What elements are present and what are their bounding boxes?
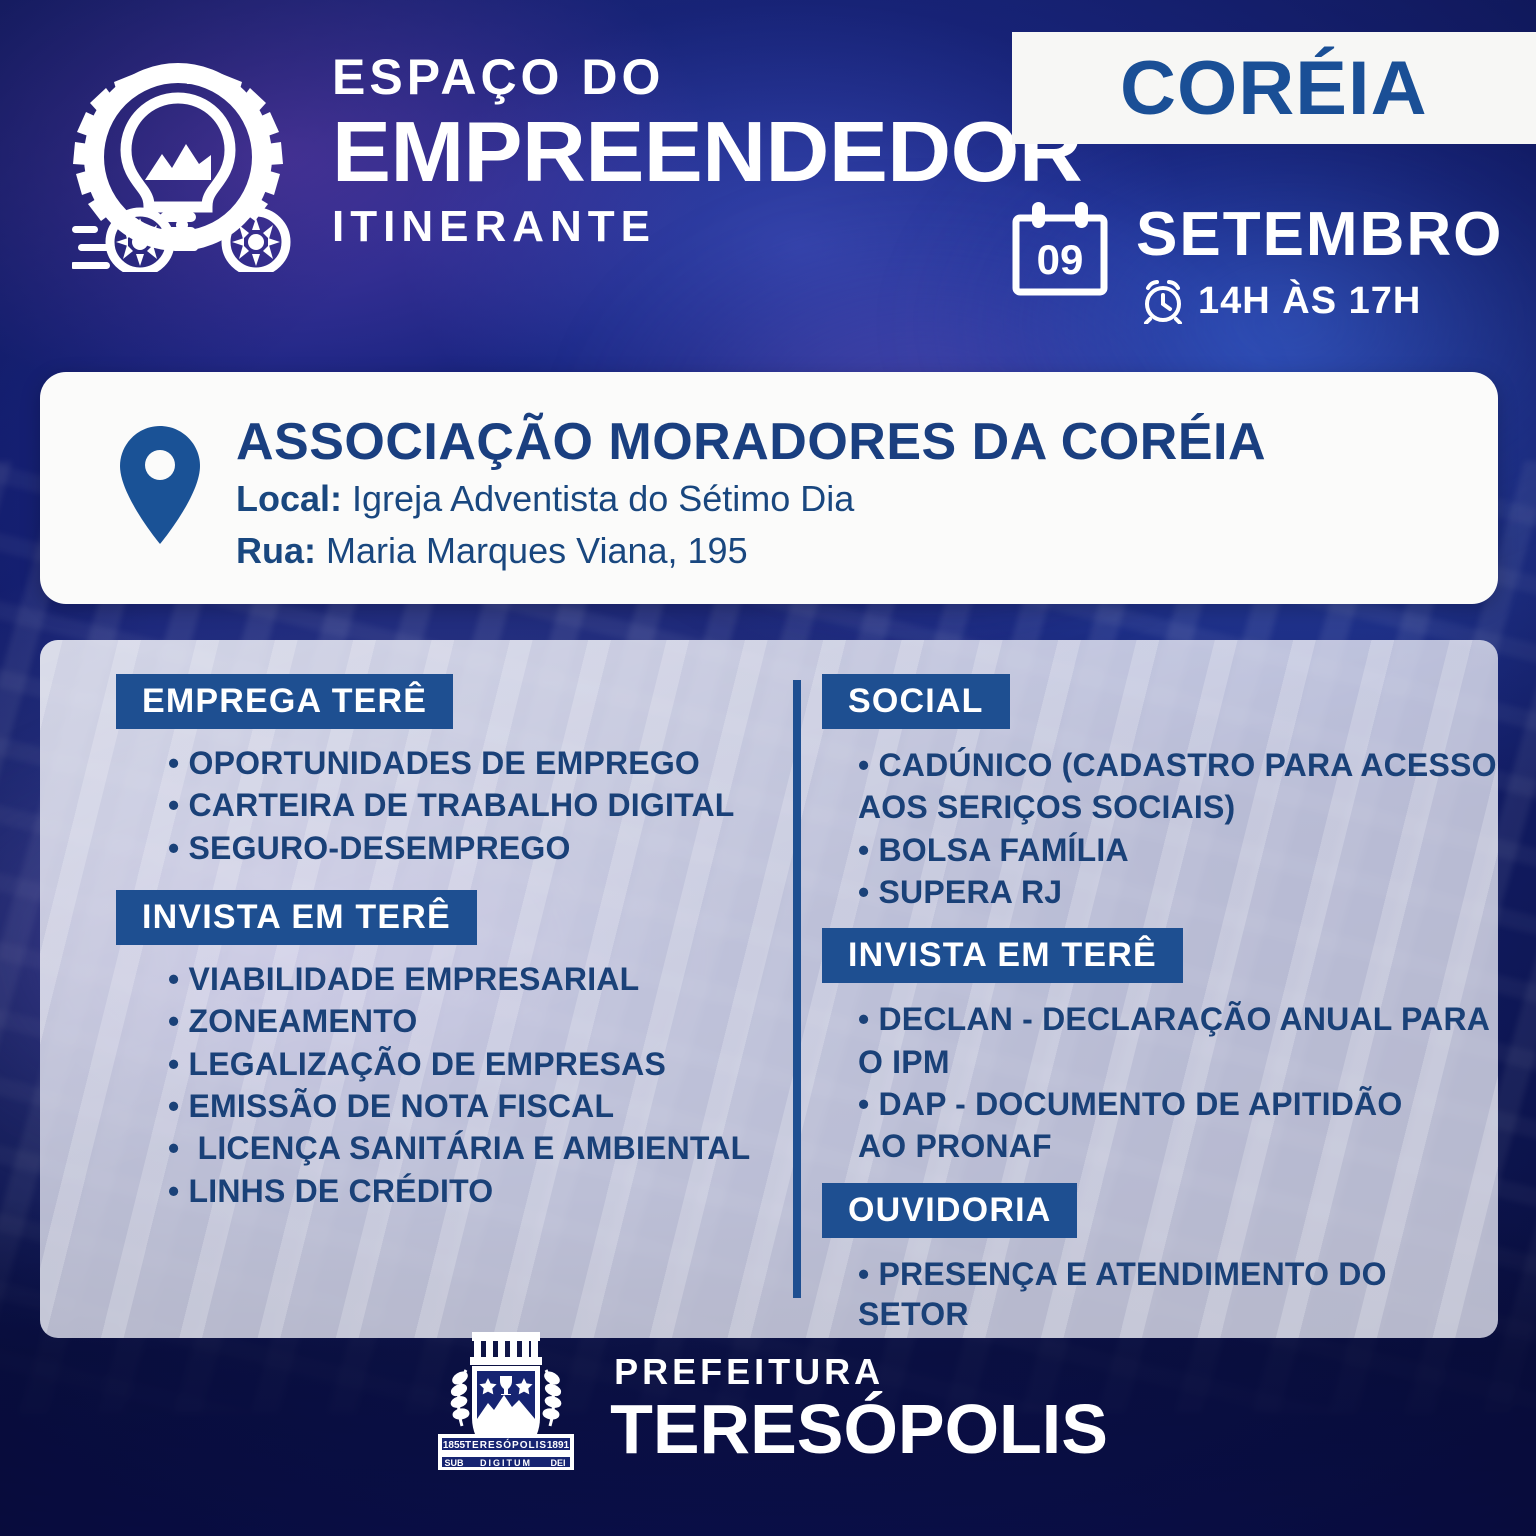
crest-motto-digitum: DIGITUM [480,1458,532,1468]
list-item: SEGURO-DESEMPREGO [168,828,796,868]
service-list-invista-em-tere-right: DECLAN - DECLARAÇÃO ANUAL PARA O IPM DAP… [796,983,1498,1166]
list-item: EMISSÃO DE NOTA FISCAL [168,1086,796,1126]
brand-line-1: ESPAÇO DO [332,52,932,102]
venue-local-value: Igreja Adventista do Sétimo Dia [352,478,854,519]
service-list-social: CADÚNICO (CADASTRO PARA ACESSO AOS SERIÇ… [796,729,1498,912]
list-item: LICENÇA SANITÁRIA E AMBIENTAL [168,1128,796,1168]
service-list-ouvidoria: PRESENÇA E ATENDIMENTO DO SETOR [796,1238,1498,1335]
section-heading-emprega-tere: EMPREGA TERÊ [116,674,453,729]
venue-local-line: Local: Igreja Adventista do Sétimo Dia [236,475,1458,523]
section-heading-wrap: SOCIAL [796,674,1498,729]
list-item: ZONEAMENTO [168,1001,796,1041]
event-time: 14H ÀS 17H [1198,280,1421,323]
venue-details: ASSOCIAÇÃO MORADORES DA CORÉIA Local: Ig… [236,414,1458,576]
venue-local-label: Local: [236,478,342,519]
district-banner: CORÉIA [1012,32,1536,144]
service-list-invista-em-tere: VIABILIDADE EMPRESARIAL ZONEAMENTO LEGAL… [40,945,796,1211]
poster-footer: 1855 TERESÓPOLIS 1891 SUB DIGITUM DEI PR… [0,1326,1536,1494]
services-columns: EMPREGA TERÊ OPORTUNIDADES DE EMPREGO CA… [40,640,1498,1338]
venue-street-value: Maria Marques Viana, 195 [326,530,748,571]
footer-city-label: TERESÓPOLIS [610,1394,1108,1465]
services-column-left: EMPREGA TERÊ OPORTUNIDADES DE EMPREGO CA… [40,640,796,1338]
district-name: CORÉIA [1120,45,1428,132]
venue-street-line: Rua: Maria Marques Viana, 195 [236,527,1458,575]
event-time-row: 14H ÀS 17H [1140,278,1421,324]
service-block-ouvidoria: OUVIDORIA PRESENÇA E ATENDIMENTO DO SETO… [796,1183,1498,1335]
venue-title: ASSOCIAÇÃO MORADORES DA CORÉIA [236,414,1458,471]
section-heading-social: SOCIAL [822,674,1010,729]
list-item-continuation: AO PRONAF [858,1126,1498,1166]
service-block-invista-em-tere-left: INVISTA EM TERÊ VIABILIDADE EMPRESARIAL … [40,890,796,1211]
list-item: CARTEIRA DE TRABALHO DIGITAL [168,785,796,825]
brand-line-3: ITINERANTE [332,205,932,249]
crest-motto-sub: SUB [445,1458,465,1468]
crest-motto-dei: DEI [551,1458,566,1468]
list-item: LINHS DE CRÉDITO [168,1171,796,1211]
event-month: SETEMBRO [1136,204,1503,266]
services-panel: EMPREGA TERÊ OPORTUNIDADES DE EMPREGO CA… [40,640,1498,1338]
section-heading-wrap: INVISTA EM TERÊ [40,890,796,945]
list-item: SUPERA RJ [858,872,1498,912]
alarm-clock-icon [1140,278,1186,324]
list-item: BOLSA FAMÍLIA [858,830,1498,870]
teresopolis-coat-of-arms-icon: 1855 TERESÓPOLIS 1891 SUB DIGITUM DEI [428,1326,584,1494]
list-item: OPORTUNIDADES DE EMPREGO [168,743,796,783]
list-item: DECLAN - DECLARAÇÃO ANUAL PARA [858,999,1498,1039]
footer-prefecture-label: PREFEITURA [614,1354,1108,1390]
service-block-invista-em-tere-right: INVISTA EM TERÊ DECLAN - DECLARAÇÃO ANUA… [796,928,1498,1166]
list-item: CADÚNICO (CADASTRO PARA ACESSO [858,745,1498,785]
crest-city: TERESÓPOLIS [465,1438,547,1451]
calendar-day: 09 [1037,236,1084,283]
section-heading-ouvidoria: OUVIDORIA [822,1183,1077,1238]
gear-lightbulb-wheels-icon [72,62,322,272]
list-item: DAP - DOCUMENTO DE APITIDÃO [858,1084,1498,1124]
service-block-social: SOCIAL CADÚNICO (CADASTRO PARA ACESSO AO… [796,674,1498,912]
list-item: VIABILIDADE EMPRESARIAL [168,959,796,999]
section-heading-wrap: INVISTA EM TERÊ [796,928,1498,983]
section-heading-invista-em-tere: INVISTA EM TERÊ [116,890,477,945]
list-item-continuation: AOS SERIÇOS SOCIAIS) [858,787,1498,827]
event-date-time: 09 SETEMBRO 14H ÀS 17H [1012,196,1536,336]
event-poster: ESPAÇO DO EMPREENDEDOR ITINERANTE CORÉIA… [0,0,1536,1536]
list-item: LEGALIZAÇÃO DE EMPRESAS [168,1044,796,1084]
brand-line-2: EMPREENDEDOR [332,110,956,197]
list-item: PRESENÇA E ATENDIMENTO DO SETOR [858,1254,1498,1335]
calendar-icon: 09 [1012,200,1108,296]
section-heading-invista-em-tere-right: INVISTA EM TERÊ [822,928,1183,983]
government-wordmark: PREFEITURA TERESÓPOLIS [610,1354,1108,1465]
crest-year-right: 1891 [547,1440,570,1451]
venue-address-card: ASSOCIAÇÃO MORADORES DA CORÉIA Local: Ig… [40,372,1498,604]
brand-wordmark: ESPAÇO DO EMPREENDEDOR ITINERANTE [332,52,932,249]
service-block-emprega-tere: EMPREGA TERÊ OPORTUNIDADES DE EMPREGO CA… [40,674,796,868]
venue-street-label: Rua: [236,530,316,571]
list-item-continuation: O IPM [858,1042,1498,1082]
services-column-right: SOCIAL CADÚNICO (CADASTRO PARA ACESSO AO… [796,640,1498,1338]
map-pin-icon [118,424,202,546]
section-heading-wrap: EMPREGA TERÊ [40,674,796,729]
section-heading-wrap: OUVIDORIA [796,1183,1498,1238]
crest-year-left: 1855 [443,1440,466,1451]
poster-header: ESPAÇO DO EMPREENDEDOR ITINERANTE CORÉIA… [0,0,1536,360]
service-list-emprega-tere: OPORTUNIDADES DE EMPREGO CARTEIRA DE TRA… [40,729,796,868]
